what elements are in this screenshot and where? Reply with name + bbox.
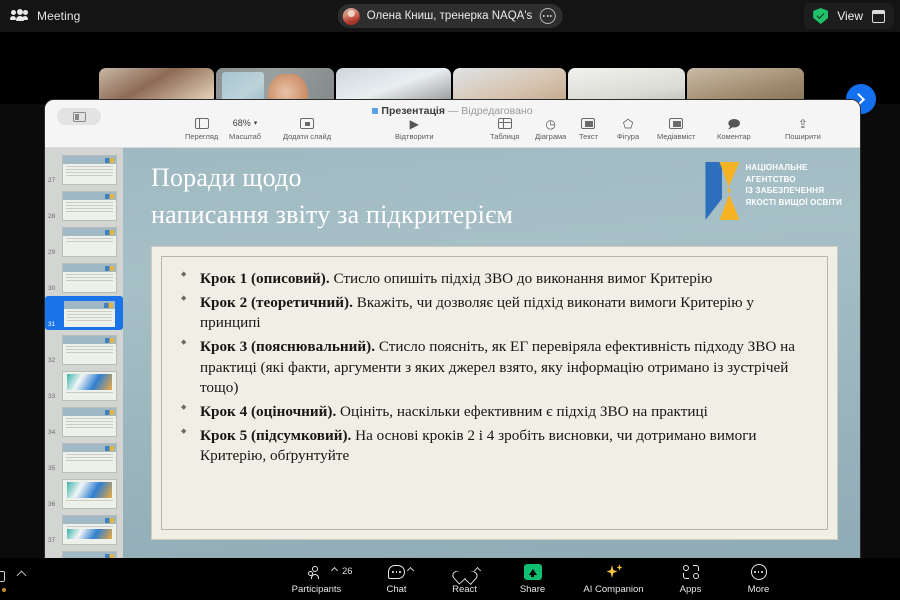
share-icon: ⇪ <box>798 117 808 130</box>
participants-count: 26 <box>342 566 353 577</box>
slide-number: 34 <box>48 429 55 436</box>
bullet-text: Стисло опишіть підхід ЗВО до виконання в… <box>330 270 713 287</box>
slide-preview <box>62 371 117 401</box>
zoom-meeting-window: Meeting Олена Книш, тренерка NAQA's View… <box>0 0 900 600</box>
naqa-line-3: ІЗ ЗАБЕЗПЕЧЕННЯ <box>745 185 842 197</box>
slide-thumbnail-selected[interactable]: 31 <box>45 296 123 330</box>
toolbar-item-label: Фігура <box>617 132 639 141</box>
slide-number: 37 <box>48 537 55 544</box>
bullet-lead: Крок 2 (теоретичний). <box>200 294 353 311</box>
slide-bullet-list: Крок 1 (описовий). Стисло опишіть підхід… <box>178 269 813 467</box>
toolbar-item-label: Коментар <box>717 132 751 141</box>
slide-thumbnail[interactable]: 34 <box>45 404 123 438</box>
sparkle-icon <box>605 564 623 581</box>
slide-number: 28 <box>48 213 55 220</box>
toolbar-view-button[interactable]: Перегляд <box>185 117 218 141</box>
slide-preview <box>62 155 117 185</box>
toolbar-item-label: Поширити <box>785 132 821 141</box>
toolbar-item-label: Діаграма <box>535 132 566 141</box>
chevron-up-icon[interactable] <box>474 566 481 573</box>
slide-canvas[interactable]: Поради щодо написання звіту за підкритер… <box>123 148 860 558</box>
slide-preview <box>62 335 117 365</box>
toolbar-item-label: Текст <box>579 132 598 141</box>
slide-thumbnail[interactable]: 35 <box>45 440 123 474</box>
bullet-lead: Крок 5 (підсумковий). <box>200 427 351 444</box>
shape-icon: ⬠ <box>623 117 633 130</box>
keynote-document-title: Презентація — Відредаговано <box>45 105 860 117</box>
shield-check-icon[interactable] <box>813 8 828 24</box>
slide-number: 36 <box>48 501 55 508</box>
chat-button[interactable]: Chat <box>366 564 428 595</box>
participants-button[interactable]: 26 Participants <box>286 564 348 595</box>
slide-title-line-1: Поради щодо <box>151 160 751 197</box>
slide-number: 27 <box>48 177 55 184</box>
avatar <box>343 8 360 25</box>
naqa-line-2: АГЕНТСТВО <box>745 174 842 186</box>
active-speaker-pill[interactable]: Олена Книш, тренерка NAQA's <box>338 4 563 28</box>
slide-preview <box>62 515 117 545</box>
slide-number: 32 <box>48 357 55 364</box>
toolbar-item-label: Додати слайд <box>283 132 331 141</box>
people-icon <box>10 9 28 23</box>
toolbar-table-button[interactable]: Таблиця <box>490 117 519 141</box>
list-item: Крок 1 (описовий). Стисло опишіть підхід… <box>178 269 813 290</box>
document-status-text: — Відредаговано <box>448 105 533 117</box>
chat-icon <box>388 564 405 581</box>
slide-number: 30 <box>48 285 55 292</box>
zoom-level: 68% <box>233 119 251 128</box>
toolbar-chart-button[interactable]: ◷ Діаграма <box>535 117 566 141</box>
view-button-label[interactable]: View <box>837 9 863 23</box>
more-ellipsis-icon <box>751 564 767 581</box>
toolbar-share-button[interactable]: ⇪ Поширити <box>785 117 821 141</box>
chart-icon: ◷ <box>545 117 555 130</box>
toolbar-play-button[interactable]: ▶ Відтворити <box>395 117 434 141</box>
chat-label: Chat <box>386 584 406 595</box>
chevron-up-icon[interactable] <box>331 566 338 573</box>
list-item: Крок 3 (пояснювальний). Стисло поясніть,… <box>178 337 813 399</box>
more-button[interactable]: More <box>728 564 790 595</box>
toolbar-shape-button[interactable]: ⬠ Фігура <box>617 117 639 141</box>
ellipsis-icon[interactable] <box>539 8 555 24</box>
toolbar-add-slide-button[interactable]: Додати слайд <box>283 117 331 141</box>
add-slide-icon <box>300 117 314 130</box>
slide-thumbnail[interactable]: 28 <box>45 188 123 222</box>
mic-edge-icon[interactable] <box>0 571 5 582</box>
react-label: React <box>452 584 477 595</box>
ai-companion-button[interactable]: AI Companion <box>572 564 656 595</box>
toolbar-item-label: Відтворити <box>395 132 434 141</box>
heart-icon <box>457 564 472 581</box>
chevron-up-icon[interactable] <box>407 566 414 573</box>
toolbar-item-label: Масштаб <box>229 132 261 141</box>
view-icon <box>195 117 209 130</box>
play-icon: ▶ <box>410 117 419 130</box>
slide-body-box: Крок 1 (описовий). Стисло опишіть підхід… <box>151 246 838 540</box>
table-icon <box>498 117 512 130</box>
participant-video-strip: Olha Korinska Олена Книш, тренерка N... … <box>0 32 900 104</box>
slide-body-inner-box: Крок 1 (описовий). Стисло опишіть підхід… <box>161 256 828 530</box>
slide-preview <box>62 551 117 558</box>
naqa-line-1: НАЦІОНАЛЬНЕ <box>745 162 842 174</box>
slide-title-line-2: написання звіту за підкритерієм <box>151 197 751 234</box>
media-icon <box>669 117 683 130</box>
list-item: Крок 2 (теоретичний). Вкажіть, чи дозвол… <box>178 293 813 334</box>
slide-thumbnail[interactable]: 29 <box>45 224 123 258</box>
slide-preview <box>62 407 117 437</box>
toolbar-zoom-button[interactable]: 68% ▾ Масштаб <box>229 117 261 141</box>
slide-number: 33 <box>48 393 55 400</box>
list-item: Крок 5 (підсумковий). На основі кроків 2… <box>178 426 813 467</box>
meeting-info-group[interactable]: Meeting <box>0 9 80 23</box>
document-dot-icon <box>372 108 378 114</box>
naqa-logo: НАЦІОНАЛЬНЕ АГЕНТСТВО ІЗ ЗАБЕЗПЕЧЕННЯ ЯК… <box>705 162 842 222</box>
slide-preview <box>62 299 117 329</box>
toolbar-comment-button[interactable]: 🗩 Коментар <box>717 117 751 141</box>
slide-preview <box>62 263 117 293</box>
bullet-lead: Крок 1 (описовий). <box>200 270 330 287</box>
text-icon <box>581 117 595 130</box>
view-controls-group[interactable]: View <box>804 3 894 29</box>
naqa-logo-text: НАЦІОНАЛЬНЕ АГЕНТСТВО ІЗ ЗАБЕЗПЕЧЕННЯ ЯК… <box>745 162 842 208</box>
share-label: Share <box>520 584 545 595</box>
toolbar-item-label: Перегляд <box>185 132 218 141</box>
participants-label: Participants <box>292 584 342 595</box>
bullet-text: Оцініть, наскільки ефективним є підхід З… <box>336 403 708 420</box>
apps-button[interactable]: Apps <box>660 564 722 595</box>
slide-number: 29 <box>48 249 55 256</box>
slide-preview <box>62 479 117 509</box>
ai-companion-label: AI Companion <box>583 584 643 595</box>
more-label: More <box>748 584 770 595</box>
meeting-bottom-toolbar: 26 Participants Chat React Share <box>0 558 900 600</box>
slide-navigator[interactable]: 27 28 29 30 31 <box>45 148 123 558</box>
slide-number: 35 <box>48 465 55 472</box>
slide-thumbnail[interactable]: 27 <box>45 152 123 186</box>
keynote-shared-window: Презентація — Відредаговано Перегляд 68%… <box>45 100 860 558</box>
document-title-text: Презентація <box>381 105 445 117</box>
slide-thumbnail[interactable]: 37 <box>45 512 123 546</box>
toolbar-media-button[interactable]: Медіавміст <box>657 117 695 141</box>
list-item: Крок 4 (оціночний). Оцініть, наскільки е… <box>178 402 813 423</box>
keynote-toolbar: Презентація — Відредаговано Перегляд 68%… <box>45 100 860 148</box>
toolbar-item-label: Таблиця <box>490 132 519 141</box>
recording-dot-icon <box>2 588 6 592</box>
meeting-label: Meeting <box>37 9 80 23</box>
slide-preview <box>62 227 117 257</box>
slide-thumbnail[interactable]: 30 <box>45 260 123 294</box>
active-speaker-name: Олена Книш, тренерка NAQA's <box>367 10 533 22</box>
naqa-mark-icon <box>705 162 739 222</box>
naqa-line-4: ЯКОСТІ ВИЩОЇ ОСВІТИ <box>745 197 842 209</box>
comment-icon: 🗩 <box>727 117 740 130</box>
apps-label: Apps <box>680 584 702 595</box>
slide-thumbnail[interactable]: 32 <box>45 332 123 366</box>
slide-number: 31 <box>48 321 55 328</box>
slide-title: Поради щодо написання звіту за підкритер… <box>151 160 751 234</box>
slide-preview <box>62 191 117 221</box>
participants-icon: 26 <box>308 564 325 581</box>
layout-grid-icon[interactable] <box>872 10 885 23</box>
keynote-toolbar-items: Перегляд 68% ▾ Масштаб Додати слайд ▶ Ві… <box>45 117 860 148</box>
apps-icon <box>683 564 699 581</box>
slide-preview <box>62 443 117 473</box>
keynote-body: 27 28 29 30 31 <box>45 148 860 558</box>
bullet-lead: Крок 3 (пояснювальний). <box>200 338 375 355</box>
react-button[interactable]: React <box>434 564 496 595</box>
slide-thumbnail[interactable]: 36 <box>45 476 123 510</box>
share-screen-icon <box>524 564 542 581</box>
slide-thumbnail[interactable]: 38 <box>45 548 123 558</box>
zoom-icon: 68% ▾ <box>233 117 258 130</box>
chevron-up-icon[interactable] <box>17 571 27 581</box>
slide-thumbnail[interactable]: 33 <box>45 368 123 402</box>
toolbar-item-label: Медіавміст <box>657 132 695 141</box>
toolbar-text-button[interactable]: Текст <box>579 117 598 141</box>
share-screen-button[interactable]: Share <box>502 564 564 595</box>
bullet-lead: Крок 4 (оціночний). <box>200 403 336 420</box>
meeting-top-bar: Meeting Олена Книш, тренерка NAQA's View <box>0 0 900 32</box>
